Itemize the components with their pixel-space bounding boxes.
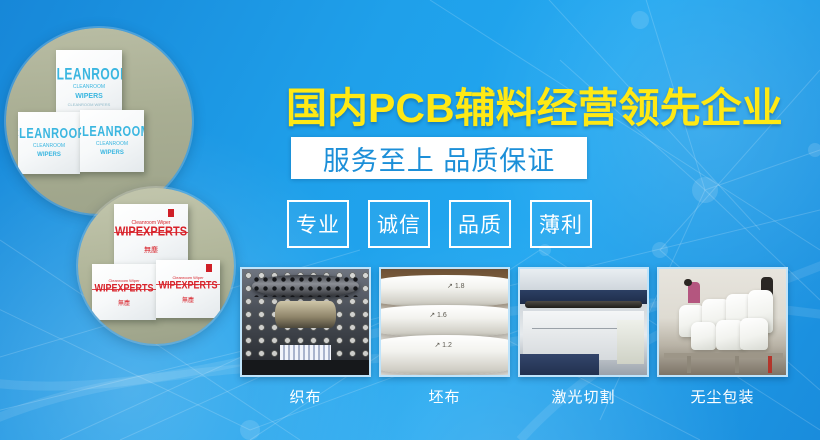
product-circle-wipexperts: Cleanroom Wiper WIPEXPERTS 無塵 Cleanroom …	[78, 188, 234, 344]
thumbnail-item-weaving[interactable]: 织布	[240, 267, 371, 407]
thumbnail-caption: 激光切割	[518, 386, 649, 407]
thumbnail-item-laser-cutting[interactable]: 激光切割	[518, 267, 649, 407]
thumbnail-caption: 坯布	[379, 386, 510, 407]
pack-sub-label: CLEANROOM	[73, 84, 105, 90]
laser-cutting-machine-photo[interactable]	[518, 267, 649, 377]
promo-banner: CLEANROOM CLEANROOM WIPERS CLEANROOM WIP…	[0, 0, 820, 440]
subheadline-text: 服务至上 品质保证	[323, 139, 556, 178]
pack-sub2-label: WIPERS	[37, 152, 61, 158]
wipexperts-packs-photo: Cleanroom Wiper WIPEXPERTS 無塵 Cleanroom …	[78, 188, 234, 344]
pack-brand-label: WIPEXPERTS	[94, 282, 153, 294]
pack-brand-label: CLEANROOM	[80, 124, 144, 140]
cleanroom-wipes-photo: CLEANROOM CLEANROOM WIPERS CLEANROOM WIP…	[6, 28, 192, 214]
feature-tag-label: 专业	[296, 209, 340, 239]
pack-sub2-label: WIPERS	[75, 93, 103, 100]
pack-sub2-label: WIPERS	[100, 150, 124, 156]
pack-footnote: CLEANROOM WIPERS	[68, 102, 111, 107]
feature-tag-label: 诚信	[377, 209, 421, 239]
cleanroom-packing-photo[interactable]	[657, 267, 788, 377]
thumbnail-item-greige-fabric[interactable]: ↗ 1.8 ↗ 1.6 ↗ 1.2 坯布	[379, 267, 510, 407]
pack-sub-label: CLEANROOM	[33, 143, 65, 149]
knitting-machine-photo[interactable]	[240, 267, 371, 377]
feature-tag-list: 专业 诚信 品质 薄利	[287, 200, 592, 248]
pack-brand-label: CLEANROOM	[18, 126, 80, 142]
feature-tag-label: 薄利	[539, 209, 583, 239]
feature-tag-label: 品质	[458, 209, 502, 239]
banner-headline: 国内PCB辅料经营领先企业	[286, 74, 783, 134]
feature-tag-professional[interactable]: 专业	[287, 200, 349, 248]
feature-tag-quality[interactable]: 品质	[449, 200, 511, 248]
pack-brand-label: WIPEXPERTS	[115, 224, 187, 238]
thumbnail-caption: 无尘包装	[657, 386, 788, 407]
thumbnail-caption: 织布	[240, 386, 371, 407]
pack-brand-label: WIPEXPERTS	[158, 279, 217, 291]
greige-fabric-rolls-photo[interactable]: ↗ 1.8 ↗ 1.6 ↗ 1.2	[379, 267, 510, 377]
feature-tag-integrity[interactable]: 诚信	[368, 200, 430, 248]
feature-tag-lowmargin[interactable]: 薄利	[530, 200, 592, 248]
subheadline-box: 服务至上 品质保证	[291, 137, 587, 179]
thumbnail-item-cleanroom-packing[interactable]: 无尘包装	[657, 267, 788, 407]
product-circle-cleanroom: CLEANROOM CLEANROOM WIPERS CLEANROOM WIP…	[6, 28, 192, 214]
pack-brand-label: CLEANROOM	[56, 65, 122, 84]
process-thumbnail-row: 织布 ↗ 1.8 ↗ 1.6 ↗ 1.2 坯布	[240, 267, 788, 407]
pack-sub-label: CLEANROOM	[96, 141, 128, 147]
